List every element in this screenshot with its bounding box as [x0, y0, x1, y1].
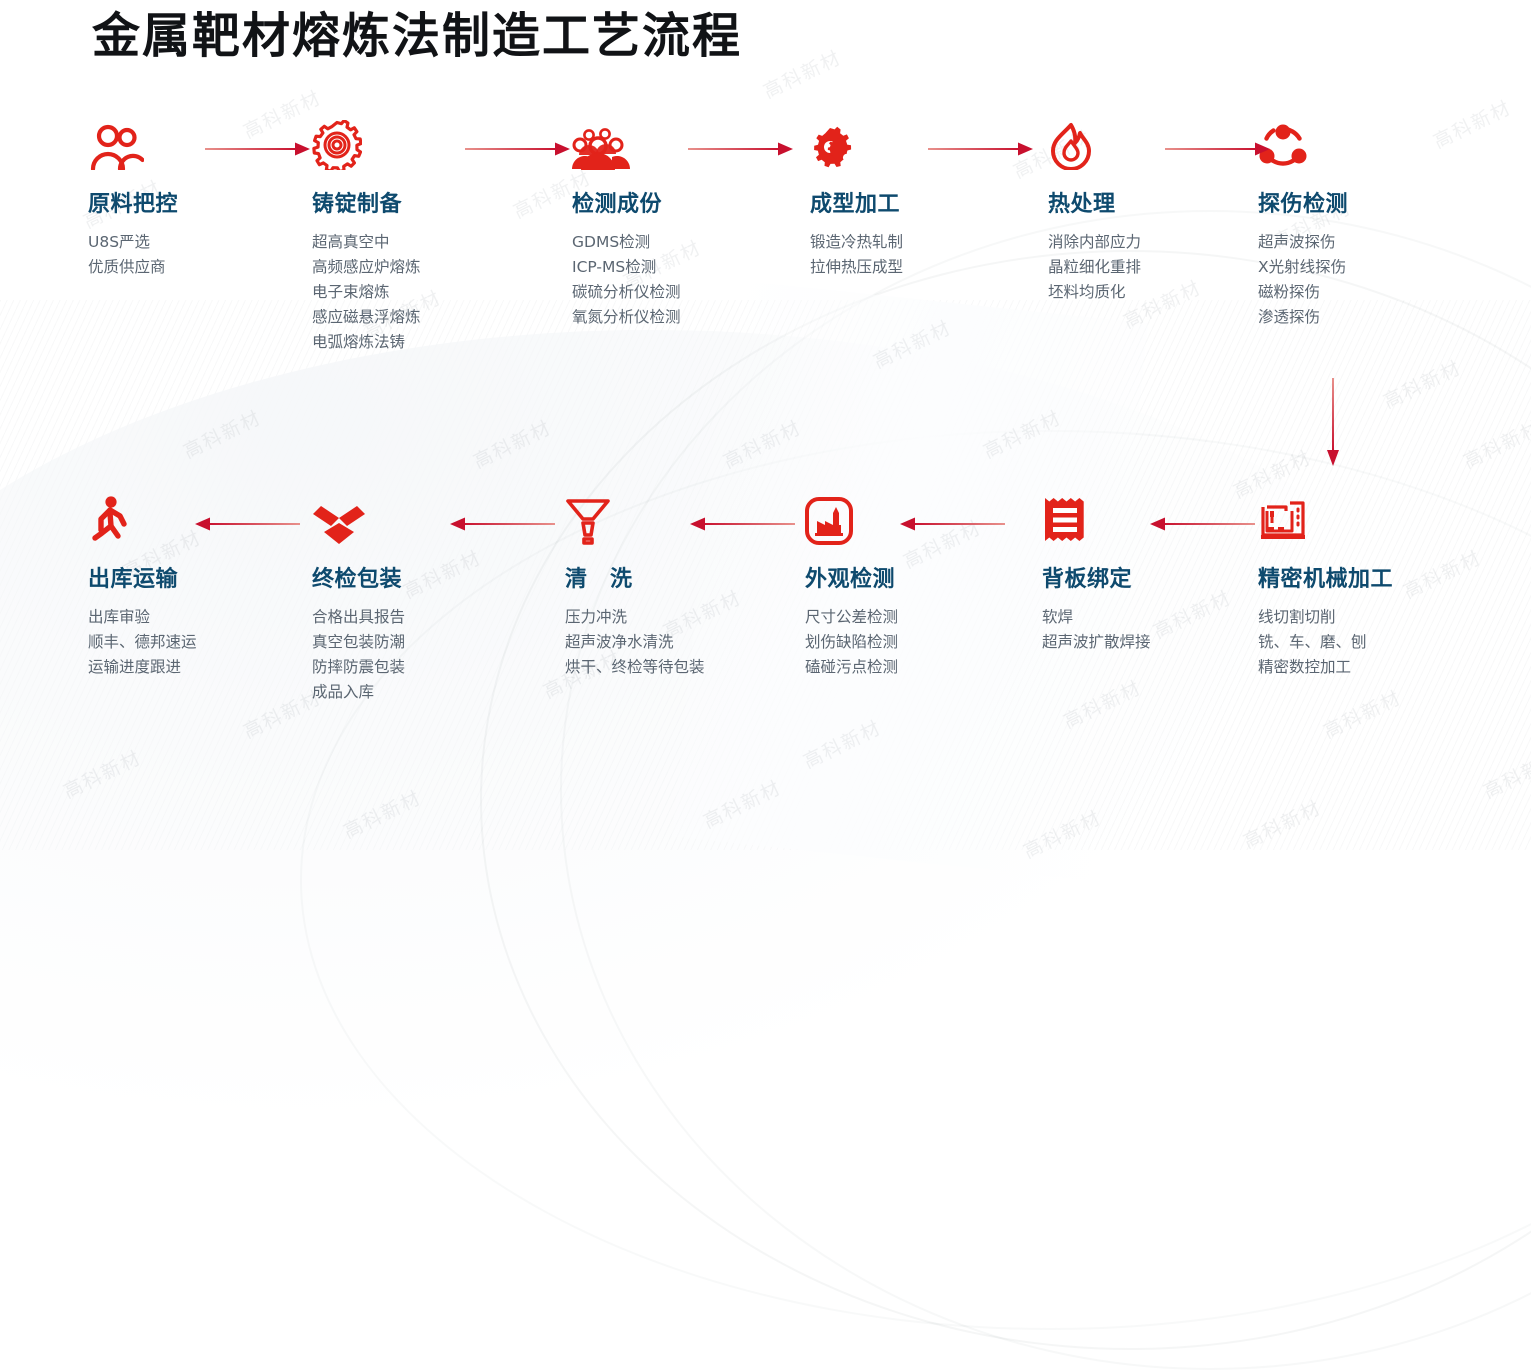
step-detail-list: 软焊超声波扩散焊接: [1042, 605, 1151, 655]
step-detail-line: 磕碰污点检测: [805, 655, 898, 680]
flow-arrow-right-2: [465, 142, 570, 156]
watermark: 高科新材: [1478, 743, 1531, 804]
process-step-backplate-bonding[interactable]: 背板绑定软焊超声波扩散焊接: [1042, 495, 1151, 655]
background-swoosh-glow: [0, 330, 1500, 1230]
watermark: 高科新材: [978, 403, 1065, 464]
watermark: 高科新材: [1238, 793, 1325, 854]
watermark: 高科新材: [178, 403, 265, 464]
step-detail-line: 拉伸热压成型: [810, 255, 903, 280]
watermark: 高科新材: [58, 743, 145, 804]
step-detail-list: U8S严选优质供应商: [88, 230, 178, 280]
watermark: 高科新材: [338, 783, 425, 844]
step-detail-list: 尺寸公差检测划伤缺陷检测磕碰污点检测: [805, 605, 898, 680]
step-detail-line: 合格出具报告: [312, 605, 405, 630]
step-title: 检测成份: [572, 186, 681, 218]
step-detail-list: 超声波探伤X光射线探伤磁粉探伤渗透探伤: [1258, 230, 1348, 330]
step-detail-line: 氧氮分析仪检测: [572, 305, 681, 330]
arrow-down-connector: [1325, 378, 1341, 468]
open-box-icon: [312, 495, 405, 545]
step-detail-list: 出库审验顺丰、德邦速运运输进度跟进: [88, 605, 197, 680]
process-step-heat-treatment[interactable]: 热处理消除内部应力晶粒细化重排坯料均质化: [1048, 120, 1141, 305]
flow-arrow-right-5: [1165, 142, 1270, 156]
process-step-appearance-inspection[interactable]: 外观检测尺寸公差检测划伤缺陷检测磕碰污点检测: [805, 495, 898, 680]
step-detail-line: 锻造冷热轧制: [810, 230, 903, 255]
step-detail-line: 优质供应商: [88, 255, 178, 280]
process-step-cleaning[interactable]: 清 洗压力冲洗超声波净水清洗烘干、终检等待包装: [565, 495, 705, 680]
watermark: 高科新材: [718, 413, 805, 474]
step-detail-list: 合格出具报告真空包装防潮防摔防震包装成品入库: [312, 605, 405, 705]
watermark: 高科新材: [468, 413, 555, 474]
step-detail-line: 超声波扩散焊接: [1042, 630, 1151, 655]
flow-arrow-right-3: [688, 142, 793, 156]
step-detail-line: 防摔防震包装: [312, 655, 405, 680]
step-detail-line: 坯料均质化: [1048, 280, 1141, 305]
watermark: 高科新材: [758, 43, 845, 104]
step-title: 铸锭制备: [312, 186, 421, 218]
flame-icon: [1048, 120, 1141, 170]
step-detail-line: 烘干、终检等待包装: [565, 655, 705, 680]
step-detail-line: X光射线探伤: [1258, 255, 1348, 280]
page-title: 金属靶材熔炼法制造工艺流程: [92, 6, 742, 66]
process-step-precision-machining[interactable]: 精密机械加工线切割切削铣、车、磨、刨精密数控加工: [1258, 495, 1393, 680]
two-people-icon: [88, 120, 178, 170]
step-title: 终检包装: [312, 561, 405, 593]
factory-badge-icon: [805, 495, 898, 545]
gear-icon: [312, 120, 421, 170]
step-detail-line: 铣、车、磨、刨: [1258, 630, 1393, 655]
step-detail-line: 真空包装防潮: [312, 630, 405, 655]
step-detail-line: 成品入库: [312, 680, 405, 705]
process-step-flaw-detection[interactable]: 探伤检测超声波探伤X光射线探伤磁粉探伤渗透探伤: [1258, 120, 1348, 330]
step-detail-line: 压力冲洗: [565, 605, 705, 630]
cnc-machine-icon: [1258, 495, 1393, 545]
watermark: 高科新材: [1458, 413, 1531, 474]
flow-arrow-left-1: [195, 517, 300, 531]
flow-arrow-right-1: [205, 142, 310, 156]
process-step-raw-material-control[interactable]: 原料把控U8S严选优质供应商: [88, 120, 178, 280]
step-title: 精密机械加工: [1258, 561, 1393, 593]
background-swoosh-arc-2: [560, 210, 1531, 1370]
process-flow-top-row: 原料把控U8S严选优质供应商 铸锭制备超高真空中高频感应炉熔炼电子束熔炼感应磁悬…: [0, 120, 1531, 360]
receipt-icon: [1042, 495, 1151, 545]
flow-arrow-left-5: [1150, 517, 1255, 531]
flow-arrow-left-3: [690, 517, 795, 531]
step-detail-line: 高频感应炉熔炼: [312, 255, 421, 280]
step-title: 热处理: [1048, 186, 1141, 218]
step-title: 探伤检测: [1258, 186, 1348, 218]
step-detail-line: ICP-MS检测: [572, 255, 681, 280]
step-detail-line: 碳硫分析仪检测: [572, 280, 681, 305]
step-title: 原料把控: [88, 186, 178, 218]
step-detail-line: 消除内部应力: [1048, 230, 1141, 255]
step-title: 背板绑定: [1042, 561, 1151, 593]
step-detail-line: 超高真空中: [312, 230, 421, 255]
flow-arrow-left-2: [450, 517, 555, 531]
step-title: 成型加工: [810, 186, 903, 218]
process-step-final-inspection-packaging[interactable]: 终检包装合格出具报告真空包装防潮防摔防震包装成品入库: [312, 495, 405, 705]
step-detail-list: 消除内部应力晶粒细化重排坯料均质化: [1048, 230, 1141, 305]
step-detail-line: 电子束熔炼: [312, 280, 421, 305]
step-detail-line: 划伤缺陷检测: [805, 630, 898, 655]
watermark: 高科新材: [698, 773, 785, 834]
step-detail-line: 顺丰、德邦速运: [88, 630, 197, 655]
step-detail-list: 线切割切削铣、车、磨、刨精密数控加工: [1258, 605, 1393, 680]
step-detail-line: 超声波探伤: [1258, 230, 1348, 255]
step-detail-list: 锻造冷热轧制拉伸热压成型: [810, 230, 903, 280]
step-detail-line: 超声波净水清洗: [565, 630, 705, 655]
process-step-outbound-shipping[interactable]: 出库运输出库审验顺丰、德邦速运运输进度跟进: [88, 495, 197, 680]
molecule-share-icon: [1258, 120, 1348, 170]
step-detail-line: GDMS检测: [572, 230, 681, 255]
funnel-icon: [565, 495, 705, 545]
step-detail-line: 出库审验: [88, 605, 197, 630]
step-detail-list: 压力冲洗超声波净水清洗烘干、终检等待包装: [565, 605, 705, 680]
step-detail-line: 运输进度跟进: [88, 655, 197, 680]
gears-icon: [810, 120, 903, 170]
process-flow-bottom-row: 出库运输出库审验顺丰、德邦速运运输进度跟进 终检包装合格出具报告真空包装防潮防摔…: [0, 495, 1531, 745]
people-group-icon: [572, 120, 681, 170]
step-detail-line: 磁粉探伤: [1258, 280, 1348, 305]
process-step-composition-testing[interactable]: 检测成份GDMS检测ICP-MS检测碳硫分析仪检测氧氮分析仪检测: [572, 120, 681, 330]
step-detail-line: U8S严选: [88, 230, 178, 255]
flow-arrow-right-4: [928, 142, 1033, 156]
step-detail-line: 精密数控加工: [1258, 655, 1393, 680]
step-detail-line: 电弧熔炼法铸: [312, 330, 421, 355]
step-title: 外观检测: [805, 561, 898, 593]
process-step-forming-processing[interactable]: 成型加工锻造冷热轧制拉伸热压成型: [810, 120, 903, 280]
flow-arrow-left-4: [900, 517, 1005, 531]
step-title: 清 洗: [565, 561, 705, 593]
background-swoosh-arc-1: [480, 250, 1531, 1350]
step-detail-line: 感应磁悬浮熔炼: [312, 305, 421, 330]
walking-person-icon: [88, 495, 197, 545]
watermark: 高科新材: [1378, 353, 1465, 414]
step-detail-line: 软焊: [1042, 605, 1151, 630]
process-step-ingot-preparation[interactable]: 铸锭制备超高真空中高频感应炉熔炼电子束熔炼感应磁悬浮熔炼电弧熔炼法铸: [312, 120, 421, 356]
step-detail-line: 晶粒细化重排: [1048, 255, 1141, 280]
step-detail-line: 渗透探伤: [1258, 305, 1348, 330]
step-detail-line: 线切割切削: [1258, 605, 1393, 630]
step-detail-list: GDMS检测ICP-MS检测碳硫分析仪检测氧氮分析仪检测: [572, 230, 681, 330]
step-title: 出库运输: [88, 561, 197, 593]
step-detail-list: 超高真空中高频感应炉熔炼电子束熔炼感应磁悬浮熔炼电弧熔炼法铸: [312, 230, 421, 356]
watermark: 高科新材: [1018, 803, 1105, 864]
step-detail-line: 尺寸公差检测: [805, 605, 898, 630]
